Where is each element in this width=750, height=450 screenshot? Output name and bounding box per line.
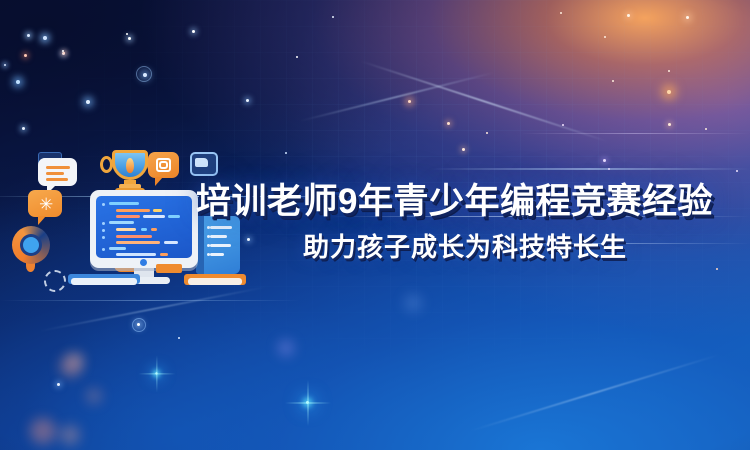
book-stack-icon — [156, 264, 182, 273]
banner-text-block: 培训老师9年青少年编程竞赛经验 助力孩子成长为科技特长生 — [196, 180, 742, 264]
speech-bubble-orange-square-icon — [148, 152, 179, 178]
book-stack-pages — [71, 278, 137, 285]
folder-tab — [195, 158, 208, 167]
dotted-circle-icon — [44, 270, 66, 292]
page-subtitle: 助力孩子成长为科技特长生 — [196, 230, 742, 264]
promo-banner: ✳ — [0, 0, 750, 450]
monitor-screen — [96, 196, 192, 258]
speech-bubble-white-icon — [38, 158, 77, 186]
book-stack-pages — [188, 278, 242, 285]
star-glyph-icon: ✳ — [39, 198, 52, 211]
trophy-flame-icon — [126, 158, 134, 173]
pin-core — [23, 237, 39, 253]
page-title: 培训老师9年青少年编程竞赛经验 — [196, 180, 742, 224]
monitor-power-dot — [140, 259, 147, 266]
